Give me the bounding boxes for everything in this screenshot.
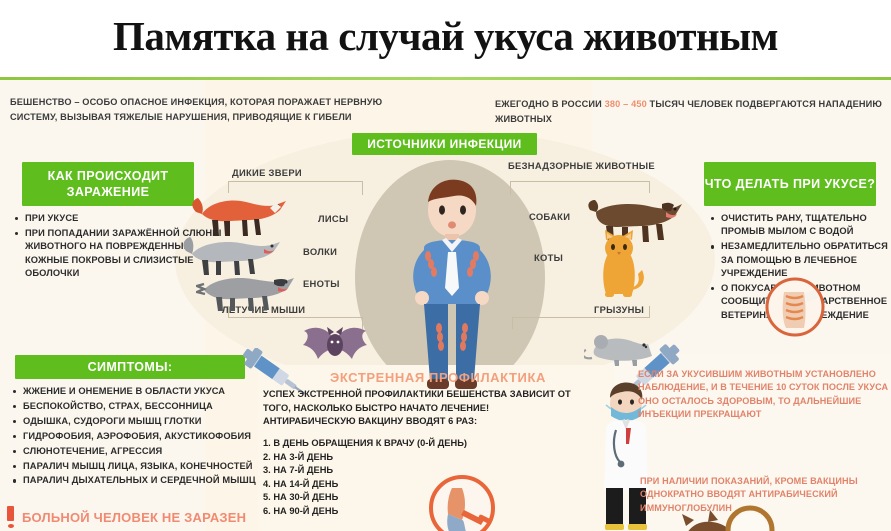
connector-stray-right-tick <box>649 181 650 193</box>
title-bar: Памятка на случай укуса животным <box>0 0 891 78</box>
list-item: ПАРАЛИЧ МЫШЦ ЛИЦА, ЯЗЫКА, КОНЕЧНОСТЕЙ <box>23 460 278 473</box>
list-item: НЕЗАМЕДЛИТЕЛЬНО ОБРАТИТЬСЯ ЗА ПОМОЩЬЮ В … <box>721 240 891 280</box>
cat-illustration <box>592 230 648 302</box>
list-item: ГИДРОФОБИЯ, АЭРОФОБИЯ, АКУСТИКОФОБИЯ <box>23 430 278 443</box>
prophylaxis-line-1: УСПЕХ ЭКСТРЕННОЙ ПРОФИЛАКТИКИ БЕШЕНСТВА … <box>263 388 608 402</box>
note-immunoglobulin: ПРИ НАЛИЧИИ ПОКАЗАНИЙ, КРОМЕ ВАКЦИНЫ ОДН… <box>640 475 888 515</box>
header-infection-sources: ИСТОЧНИКИ ИНФЕКЦИИ <box>352 133 537 155</box>
label-foxes: ЛИСЫ <box>318 213 348 225</box>
header-what-to-do: ЧТО ДЕЛАТЬ ПРИ УКУСЕ? <box>704 162 876 206</box>
connector-stray-left-tick <box>510 181 511 195</box>
prophylaxis-title: ЭКСТРЕННАЯ ПРОФИЛАКТИКА <box>268 370 608 385</box>
connector-bats <box>228 317 363 318</box>
header-how-infection-happens: КАК ПРОИСХОДИТ ЗАРАЖЕНИЕ <box>22 162 194 206</box>
raccoon-illustration <box>196 268 296 316</box>
schedule-item: 2. НА 3-Й ДЕНЬ <box>263 451 563 465</box>
intro-definition: БЕШЕНСТВО – ОСОБО ОПАСНОЕ ИНФЕКЦИЯ, КОТО… <box>10 95 430 124</box>
schedule-item: 5. НА 30-Й ДЕНЬ <box>263 491 563 505</box>
connector-wild-right-tick <box>362 181 363 195</box>
rabies-infographic-poster: Памятка на случай укуса животным БЕШЕНСТ… <box>0 0 891 531</box>
schedule-item: 4. НА 14-Й ДЕНЬ <box>263 478 563 492</box>
poster-canvas: БЕШЕНСТВО – ОСОБО ОПАСНОЕ ИНФЕКЦИЯ, КОТО… <box>0 80 891 531</box>
label-cats: КОТЫ <box>534 252 563 264</box>
list-item: БЕСПОКОЙСТВО, СТРАХ, БЕССОННИЦА <box>23 400 278 413</box>
label-raccoons: ЕНОТЫ <box>303 278 340 290</box>
wound-care-icon <box>764 276 826 338</box>
connector-rodents <box>512 317 650 318</box>
label-wolves: ВОЛКИ <box>303 246 337 258</box>
list-item: ОЧИСТИТЬ РАНУ, ТЩАТЕЛЬНО ПРОМЫВ МЫЛОМ С … <box>721 212 891 239</box>
schedule-item: 1. В ДЕНЬ ОБРАЩЕНИЯ К ВРАЧУ (0-Й ДЕНЬ) <box>263 437 563 451</box>
stat-text-before: ЕЖЕГОДНО В РОССИИ <box>495 99 605 109</box>
list-item: ПАРАЛИЧ ДЫХАТЕЛЬНЫХ И СЕРДЕЧНОЙ МЫШЦ <box>23 474 278 487</box>
prophylaxis-body: УСПЕХ ЭКСТРЕННОЙ ПРОФИЛАКТИКИ БЕШЕНСТВА … <box>263 388 608 429</box>
prophylaxis-schedule: 1. В ДЕНЬ ОБРАЩЕНИЯ К ВРАЧУ (0-Й ДЕНЬ) 2… <box>263 437 563 519</box>
connector-wild-top <box>228 181 363 182</box>
prophylaxis-line-2: ТОГО, НАСКОЛЬКО БЫСТРО НАЧАТО ЛЕЧЕНИЕ! <box>263 402 608 416</box>
not-contagious-note: БОЛЬНОЙ ЧЕЛОВЕК НЕ ЗАРАЗЕН <box>22 510 246 525</box>
label-stray-animals: БЕЗНАДЗОРНЫЕ ЖИВОТНЫЕ <box>508 160 653 172</box>
label-rodents: ГРЫЗУНЫ <box>594 304 644 316</box>
schedule-item: 6. НА 90-Й ДЕНЬ <box>263 505 563 519</box>
list-item: ОДЫШКА, СУДОРОГИ МЫШЦ ГЛОТКИ <box>23 415 278 428</box>
person-illustration <box>398 176 506 398</box>
intro-statistics: ЕЖЕГОДНО В РОССИИ 380 – 450 ТЫСЯЧ ЧЕЛОВЕ… <box>495 97 885 126</box>
label-wild-animals: ДИКИЕ ЗВЕРИ <box>232 167 302 179</box>
schedule-item: 3. НА 7-Й ДЕНЬ <box>263 464 563 478</box>
header-symptoms: СИМПТОМЫ: <box>15 355 245 379</box>
note-observation: ЕСЛИ ЗА УКУСИВШИМ ЖИВОТНЫМ УСТАНОВЛЕНО Н… <box>638 368 890 422</box>
symptoms-list: ЖЖЕНИЕ И ОНЕМЕНИЕ В ОБЛАСТИ УКУСА БЕСПОК… <box>8 385 278 489</box>
connector-stray-top <box>510 181 650 182</box>
stat-number: 380 – 450 <box>605 99 647 109</box>
prophylaxis-line-3: АНТИРАБИЧЕСКУЮ ВАКЦИНУ ВВОДЯТ 6 РАЗ: <box>263 415 608 429</box>
connector-rodents-left-tick <box>512 317 513 329</box>
exclamation-icon <box>7 506 14 528</box>
page-title: Памятка на случай укуса животным <box>0 12 891 60</box>
label-dogs: СОБАКИ <box>529 211 570 223</box>
connector-rodents-right-tick <box>649 306 650 318</box>
list-item: СЛЮНОТЕЧЕНИЕ, АГРЕССИЯ <box>23 445 278 458</box>
